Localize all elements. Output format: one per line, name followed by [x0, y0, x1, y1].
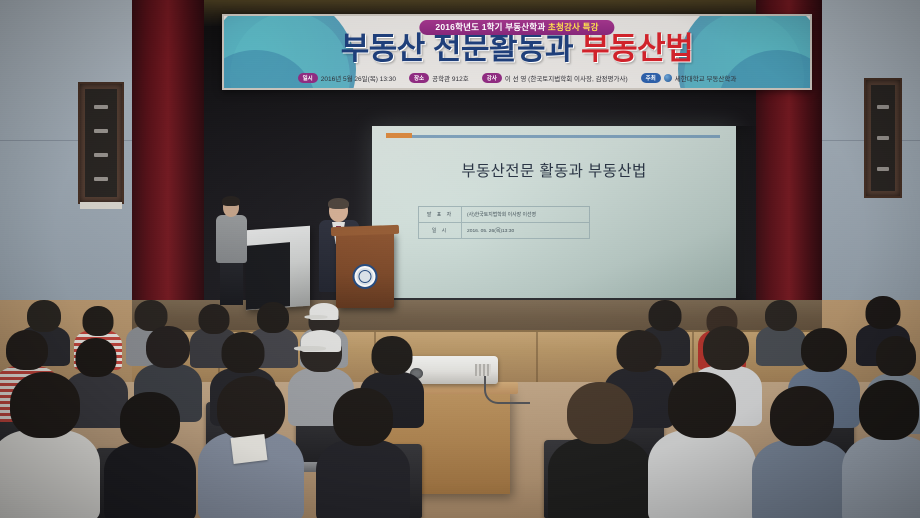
banner-meta-date-tag: 일시 — [298, 73, 318, 83]
speaker-hair — [328, 198, 349, 209]
technician-person — [214, 198, 250, 306]
audience-head — [217, 376, 285, 440]
audience-head — [199, 304, 230, 334]
audience-person-foreground — [648, 372, 756, 518]
audience-head — [801, 328, 847, 372]
projector-vent — [475, 364, 491, 376]
banner-meta-speaker-tag: 강사 — [482, 73, 502, 83]
banner-meta-place: 장소 공학관 912호 — [409, 73, 469, 83]
slide-accent-tab — [386, 133, 412, 138]
audience-person-foreground — [104, 392, 196, 518]
audience-person-foreground — [316, 388, 410, 518]
banner-subtitle-pill: 2016학년도 1학기 부동산학과 초청강사 특강 — [419, 20, 614, 35]
audience-head — [668, 372, 736, 438]
audience-head — [83, 306, 114, 336]
notice-line — [94, 105, 109, 109]
audience-person-foreground — [752, 386, 852, 518]
audience-head — [257, 302, 289, 333]
event-banner: 2016학년도 1학기 부동산학과 초청강사 특강 부동산 전문활동과 부동산법… — [222, 14, 812, 90]
audience-body — [548, 438, 652, 518]
notice-line — [877, 136, 888, 140]
banner-title-accent: 부동산법 — [581, 31, 693, 66]
audience-head — [10, 372, 80, 438]
audience-head — [859, 380, 919, 440]
audience-person-foreground — [548, 382, 652, 518]
notice-line — [877, 105, 888, 109]
audience-head — [146, 326, 190, 368]
audience-head — [333, 388, 393, 446]
audience-head — [567, 382, 633, 444]
banner-meta-host: 주최 세한대학교 부동산학과 — [641, 73, 737, 83]
banner-meta-speaker: 강사 이 선 영 (한국토지법학회 이사장, 감정평가사) — [482, 73, 628, 83]
audience-head — [876, 336, 916, 376]
projection-screen: 부동산전문 활동과 부동산법 발 표 자 (사)한국토지법학회 이사장 이선영 … — [372, 126, 736, 298]
banner-title-main: 부동산 전문활동과 — [341, 31, 581, 66]
notice-board-right — [864, 78, 902, 198]
slide-row-value: (사)한국토지법학회 이사장 이선영 — [462, 211, 589, 218]
audience-head — [765, 300, 797, 331]
audience-head — [770, 386, 834, 446]
notice-line — [94, 153, 109, 157]
banner-meta-host-tag: 주최 — [641, 73, 661, 83]
audience-head — [372, 336, 413, 375]
slide-title: 부동산전문 활동과 부동산법 — [372, 159, 736, 181]
audience-body — [648, 430, 756, 518]
banner-meta-place-value: 공학관 912호 — [432, 73, 469, 83]
lecture-hall-photo: 2016학년도 1학기 부동산학과 초청강사 특강 부동산 전문활동과 부동산법… — [0, 0, 920, 518]
audience-head — [649, 300, 682, 331]
slide-info-table: 발 표 자 (사)한국토지법학회 이사장 이선영 일 시 2016. 05. 2… — [418, 206, 590, 239]
banner-meta-date-value: 2016년 5월 26일(목) 13:30 — [321, 73, 396, 83]
university-logo-icon — [664, 74, 672, 82]
audience-body — [842, 436, 920, 518]
audience-head — [866, 296, 901, 329]
audience-head — [222, 332, 265, 373]
audience-head — [6, 330, 48, 370]
technician-legs — [220, 261, 243, 305]
podium-top-surface — [331, 225, 399, 236]
banner-meta-row: 일시 2016년 5월 26일(목) 13:30 장소 공학관 912호 강사 … — [224, 73, 810, 83]
notice-board-left — [78, 82, 124, 204]
notice-board-left-inner — [85, 89, 117, 197]
banner-meta-speaker-value: 이 선 영 (한국토지법학회 이사장, 감정평가사) — [505, 73, 628, 83]
stage-panel-seam — [536, 332, 538, 384]
audience-head — [120, 392, 180, 448]
notice-board-right-inner — [871, 85, 895, 191]
slide-row-value: 2016. 05. 26(목)13:30 — [462, 227, 589, 234]
stage-curtain-left — [132, 0, 204, 318]
baseball-cap-icon — [310, 303, 339, 320]
audience-person-foreground — [842, 380, 920, 518]
banner-meta-date: 일시 2016년 5월 26일(목) 13:30 — [298, 73, 396, 83]
banner-subtitle-highlight: 초청강사 특강 — [548, 22, 599, 32]
audience-head — [617, 330, 662, 372]
university-seal-icon — [353, 264, 378, 289]
banner-meta-host-value: 세한대학교 부동산학과 — [675, 73, 737, 83]
audience-head — [703, 326, 749, 370]
podium — [336, 232, 394, 308]
banner-title: 부동산 전문활동과 부동산법 — [224, 33, 810, 64]
projector-cable — [484, 376, 530, 404]
audience-body — [316, 440, 410, 518]
notice-line — [94, 129, 109, 133]
screen-side-shadow — [736, 126, 758, 306]
banner-subtitle-prefix: 2016학년도 1학기 부동산학과 — [435, 22, 548, 32]
baseball-cap-icon — [301, 330, 341, 352]
technician-torso — [216, 215, 247, 263]
slide-row-label: 발 표 자 — [419, 207, 462, 222]
audience-head — [27, 300, 61, 332]
slide-row-label: 일 시 — [419, 223, 462, 238]
notice-board-tag — [80, 202, 122, 209]
audience-body — [104, 442, 196, 518]
banner-meta-place-tag: 장소 — [409, 73, 429, 83]
slide-rule — [386, 135, 720, 138]
audience-body — [0, 430, 100, 518]
notice-line — [877, 167, 888, 171]
audience-person-foreground — [0, 372, 100, 518]
audience-body — [752, 440, 852, 518]
handout-paper — [231, 434, 268, 464]
slide-table-row: 발 표 자 (사)한국토지법학회 이사장 이선영 — [419, 207, 589, 223]
equipment-cart-shadow-box — [246, 242, 290, 310]
slide-table-row: 일 시 2016. 05. 26(목)13:30 — [419, 223, 589, 239]
notice-line — [94, 177, 109, 181]
technician-hair — [222, 196, 240, 206]
